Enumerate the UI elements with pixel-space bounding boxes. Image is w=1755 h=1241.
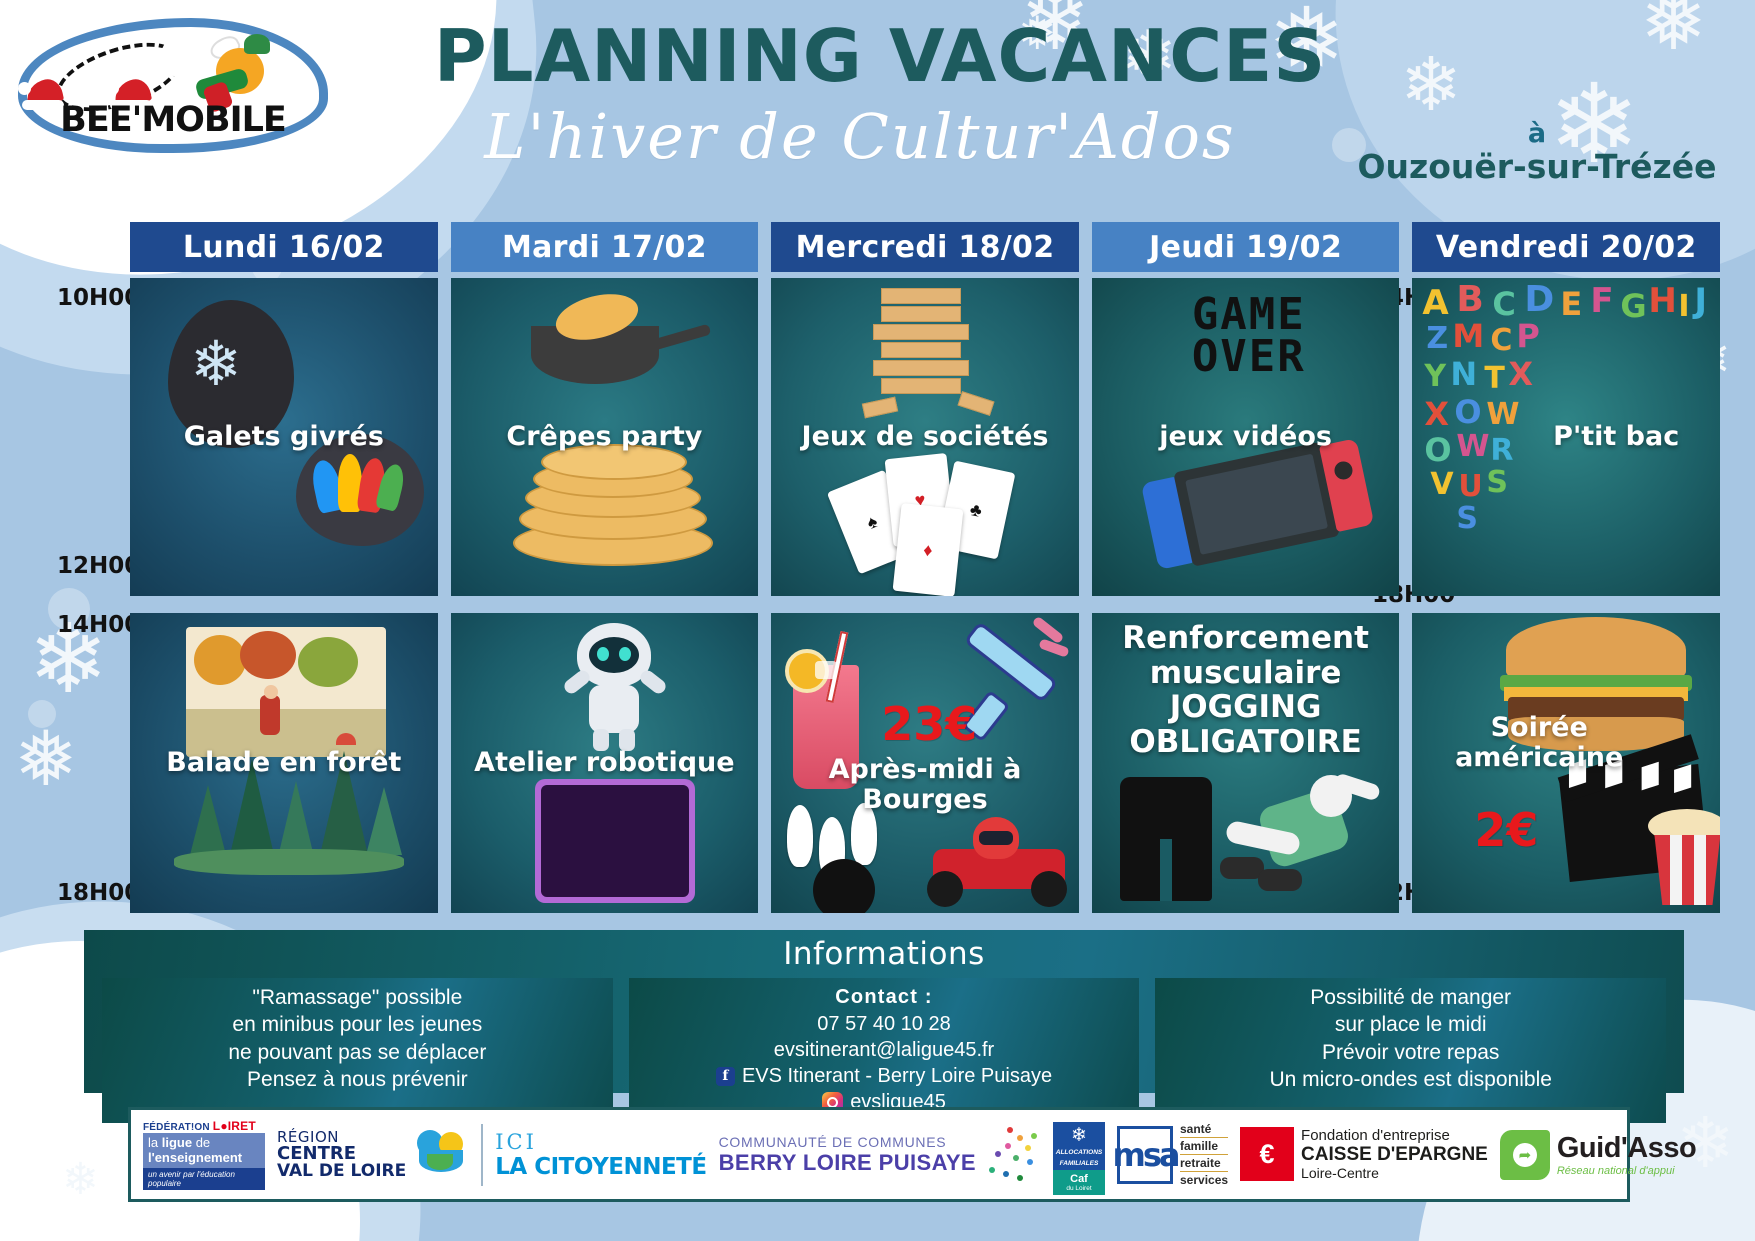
alphabet-letter: O bbox=[1454, 396, 1481, 428]
pine-tree-shape bbox=[278, 781, 314, 857]
caisse-line-1: Fondation d'entreprise bbox=[1301, 1127, 1488, 1144]
day-column-lundi: Lundi 16/02 ❄ Galets givrés bbox=[130, 222, 438, 913]
price-badge-mercredi: 23€ bbox=[881, 697, 977, 751]
msa-mark-icon: msa bbox=[1117, 1126, 1173, 1184]
activity-label-vendredi-morning: P'tit bac bbox=[1547, 422, 1685, 452]
time-marker-left-18h: 18H00 bbox=[57, 880, 140, 906]
ici-block: ICI LA CITOYENNETÉ bbox=[495, 1130, 706, 1180]
jenga-block bbox=[881, 306, 961, 322]
repas-line-1: Possibilité de manger bbox=[1161, 984, 1660, 1011]
tree-crown-shape bbox=[298, 637, 358, 687]
alphabet-letter: Z bbox=[1426, 324, 1448, 354]
alphabet-letter: S bbox=[1456, 504, 1478, 534]
informations-panel: Informations "Ramassage" possible en min… bbox=[84, 930, 1684, 1093]
activity-label-lundi-afternoon: Balade en forêt bbox=[160, 748, 407, 778]
ici-line-1: ICI bbox=[495, 1130, 706, 1154]
partner-logo-caf: ❄ ALLOCATIONS FAMILIALES Caf du Loiret bbox=[1053, 1122, 1105, 1188]
ici-line-2: LA CITOYENNETÉ bbox=[495, 1154, 706, 1180]
santa-hat-pompom bbox=[18, 82, 31, 95]
ccblp-line-1: COMMUNAUTÉ DE COMMUNES bbox=[719, 1134, 976, 1150]
location-prefix: à bbox=[1337, 120, 1737, 148]
page-title: PLANNING VACANCES bbox=[330, 14, 1430, 98]
day-column-vendredi: Vendredi 20/02 A B C D E F G H I J K Z M… bbox=[1412, 222, 1720, 913]
guid-asso-text-block: Guid'Asso Réseau national d'appui bbox=[1557, 1132, 1696, 1177]
popcorn-box bbox=[1654, 835, 1720, 905]
informations-columns: "Ramassage" possible en minibus pour les… bbox=[84, 972, 1684, 1123]
ligue-federation-text: FÉDÉRAT!ON bbox=[143, 1122, 213, 1133]
activity-cell-vendredi-afternoon[interactable]: 2€ Soirée américaine bbox=[1412, 613, 1720, 913]
robot-eye-shape bbox=[597, 647, 609, 661]
tablet-icon bbox=[535, 779, 695, 903]
contact-email[interactable]: evsitinerant@laligue45.fr bbox=[635, 1037, 1134, 1063]
alphabet-letter: O bbox=[1424, 434, 1451, 466]
karting-icon bbox=[919, 809, 1079, 913]
logo-text: BEE'MOBILE bbox=[18, 100, 328, 140]
day-header-mardi[interactable]: Mardi 17/02 bbox=[451, 222, 759, 272]
alphabet-letter: G bbox=[1620, 290, 1646, 322]
activity-cell-mercredi-afternoon[interactable]: 23€ Après-midi à Bourges bbox=[771, 613, 1079, 913]
activity-cell-mardi-afternoon[interactable]: Atelier robotique bbox=[451, 613, 759, 913]
bee-icon bbox=[204, 40, 266, 102]
activity-label-mardi-afternoon: Atelier robotique bbox=[468, 748, 740, 778]
robot-body-shape bbox=[589, 685, 639, 733]
hiker-figure bbox=[260, 695, 280, 735]
robot-arm-shape bbox=[637, 668, 668, 696]
day-column-jeudi: Jeudi 19/02 GAME OVER jeux vidéos bbox=[1092, 222, 1400, 913]
popcorn-box-stripe bbox=[1694, 835, 1706, 905]
guid-asso-compass-icon: ➦ bbox=[1500, 1130, 1550, 1180]
game-over-line1: GAME bbox=[1154, 294, 1344, 336]
alphabet-letter: C bbox=[1490, 326, 1512, 356]
situp-figure-icon bbox=[1218, 761, 1398, 903]
activity-label-mardi-morning: Crêpes party bbox=[500, 422, 708, 452]
dot bbox=[1025, 1145, 1031, 1151]
caf-logo-block: ❄ ALLOCATIONS FAMILIALES Caf du Loiret bbox=[1053, 1122, 1105, 1188]
activity-cell-vendredi-morning[interactable]: A B C D E F G H I J K Z M C P Y N T X X bbox=[1412, 278, 1720, 596]
alphabet-letter: F bbox=[1590, 284, 1613, 318]
caisse-line-3: Loire-Centre bbox=[1301, 1166, 1488, 1182]
sweatpants-icon bbox=[1120, 777, 1212, 901]
figure-shoe bbox=[1220, 857, 1264, 879]
caisse-epargne-mark-icon: € bbox=[1240, 1127, 1294, 1181]
snowflake-icon: ❄ bbox=[62, 1158, 99, 1202]
caf-green-block: Caf du Loiret bbox=[1053, 1170, 1105, 1195]
ligue-la: la bbox=[148, 1135, 162, 1150]
ramassage-line-1: "Ramassage" possible bbox=[108, 984, 607, 1011]
time-marker-left-12h: 12H00 bbox=[57, 553, 140, 579]
hiker-head bbox=[264, 685, 278, 699]
robot-tablet-icon bbox=[555, 623, 673, 753]
partner-logo-berry-loire-puisaye: COMMUNAUTÉ DE COMMUNES BERRY LOIRE PUISA… bbox=[719, 1125, 1041, 1185]
msa-item-services: services bbox=[1180, 1172, 1228, 1188]
alphabet-letter: R bbox=[1490, 436, 1513, 466]
facebook-icon: f bbox=[716, 1067, 735, 1086]
day-column-mardi: Mardi 17/02 Crêpes party bbox=[451, 222, 759, 913]
weekly-schedule-grid: Lundi 16/02 ❄ Galets givrés bbox=[130, 222, 1720, 913]
activity-cell-jeudi-afternoon[interactable]: Renforcement musculaire JOGGING OBLIGATO… bbox=[1092, 613, 1400, 913]
caisse-epargne-text-block: Fondation d'entreprise CAISSE D'EPARGNE … bbox=[1301, 1127, 1488, 1182]
alphabet-letter: E bbox=[1560, 288, 1582, 320]
figure-shoe bbox=[1258, 869, 1302, 891]
partner-logo-caisse-epargne: € Fondation d'entreprise CAISSE D'EPARGN… bbox=[1240, 1127, 1488, 1182]
jenga-block bbox=[881, 288, 961, 304]
time-marker-left-14h: 14H00 bbox=[57, 612, 140, 638]
ramassage-line-3: ne pouvant pas se déplacer bbox=[108, 1039, 607, 1066]
alphabet-letter: I bbox=[1678, 292, 1689, 322]
dot bbox=[1007, 1127, 1013, 1133]
activity-label-jeudi-morning: jeux vidéos bbox=[1153, 422, 1338, 452]
pine-tree-shape bbox=[366, 787, 402, 855]
alphabet-letter: U bbox=[1458, 472, 1482, 502]
snowflake-painting: ❄ bbox=[190, 334, 242, 396]
guid-tagline: Réseau national d'appui bbox=[1557, 1165, 1696, 1177]
game-over-line2: OVER bbox=[1154, 336, 1344, 378]
bowling-ball bbox=[813, 859, 875, 913]
dot bbox=[995, 1151, 1001, 1157]
partner-logo-ici-citoyennete: ICI LA CITOYENNETÉ bbox=[495, 1130, 706, 1180]
alphabet-letter: A bbox=[1422, 286, 1448, 320]
ligue-de: de bbox=[192, 1135, 210, 1150]
alphabet-letter: V bbox=[1430, 470, 1453, 500]
alphabet-letter: S bbox=[1486, 468, 1508, 498]
bokeh-circle bbox=[28, 700, 56, 728]
jenga-block bbox=[862, 397, 898, 419]
snowflake-icon: ❅ bbox=[14, 722, 78, 798]
location-block: à Ouzouër-sur-Trézée bbox=[1337, 120, 1737, 186]
bowling-pins-icon bbox=[777, 801, 927, 913]
playing-card: ♦ bbox=[893, 503, 964, 596]
caf-allocations-line: ALLOCATIONS bbox=[1056, 1149, 1102, 1156]
ccblp-dots-icon bbox=[983, 1125, 1041, 1185]
informations-title: Informations bbox=[84, 930, 1684, 972]
info-box-contact: Contact : 07 57 40 10 28 evsitinerant@la… bbox=[629, 978, 1140, 1123]
info-box-ramassage: "Ramassage" possible en minibus pour les… bbox=[102, 978, 613, 1123]
heart-base-green bbox=[427, 1154, 453, 1170]
autumn-forest-illustration bbox=[186, 627, 386, 757]
alphabet-letter: K bbox=[1718, 290, 1720, 324]
guid-name: Guid'Asso bbox=[1557, 1132, 1696, 1165]
dot bbox=[1031, 1133, 1037, 1139]
alphabet-letter: B bbox=[1456, 282, 1483, 318]
popcorn-icon bbox=[1644, 809, 1720, 909]
logo-divider bbox=[481, 1124, 483, 1186]
ligue-loiret-text: L●IRET bbox=[213, 1119, 256, 1133]
dot bbox=[1005, 1143, 1011, 1149]
kart-wheel bbox=[927, 871, 963, 907]
alphabet-letter: N bbox=[1450, 358, 1477, 390]
alphabet-letter: C bbox=[1492, 288, 1515, 320]
game-over-pixel-text: GAME OVER bbox=[1154, 294, 1344, 378]
playing-cards-icon: ♠ ♥ ♣ ♦ bbox=[841, 448, 1051, 578]
caf-loiret-text: du Loiret bbox=[1053, 1185, 1105, 1192]
ramassage-line-2: en minibus pour les jeunes bbox=[108, 1011, 607, 1038]
dot bbox=[1003, 1171, 1009, 1177]
time-marker-left-10h: 10H00 bbox=[57, 285, 140, 311]
repas-line-4: Un micro-ondes est disponible bbox=[1161, 1066, 1660, 1093]
jenga-block bbox=[881, 378, 961, 394]
activity-label-lundi-morning: Galets givrés bbox=[178, 422, 390, 452]
repas-line-2: sur place le midi bbox=[1161, 1011, 1660, 1038]
partner-logo-msa: msa santé famille retraite services bbox=[1117, 1121, 1228, 1188]
day-column-mercredi: Mercredi 18/02 ♠ ♥ ♣ ♦ Jeux de sociétés bbox=[771, 222, 1079, 913]
ccblp-block: COMMUNAUTÉ DE COMMUNES BERRY LOIRE PUISA… bbox=[719, 1134, 976, 1176]
price-badge-vendredi: 2€ bbox=[1474, 803, 1538, 857]
caf-familiales-line: FAMILIALES bbox=[1060, 1160, 1099, 1167]
dot bbox=[1027, 1159, 1033, 1165]
popcorn-box-stripe bbox=[1670, 835, 1682, 905]
msa-item-famille: famille bbox=[1180, 1138, 1228, 1155]
robot-arm-shape bbox=[561, 668, 592, 696]
alphabet-letter: T bbox=[1484, 364, 1504, 394]
activity-cell-lundi-morning[interactable]: ❄ Galets givrés bbox=[130, 278, 438, 596]
msa-services-list: santé famille retraite services bbox=[1180, 1121, 1228, 1188]
alphabet-letter: Y bbox=[1424, 362, 1446, 392]
facebook-handle: EVS Itinerant - Berry Loire Puisaye bbox=[742, 1063, 1052, 1089]
msa-item-sante: santé bbox=[1180, 1121, 1228, 1138]
alphabet-letter: J bbox=[1694, 284, 1707, 318]
bee-mobile-logo: BEE'MOBILE bbox=[18, 18, 328, 153]
region-line-3: VAL DE LOIRE bbox=[277, 1163, 406, 1180]
ramassage-line-4: Pensez à nous prévenir bbox=[108, 1066, 607, 1093]
activity-cell-jeudi-morning[interactable]: GAME OVER jeux vidéos bbox=[1092, 278, 1400, 596]
kart-wheel bbox=[1031, 871, 1067, 907]
santa-hat-pompom bbox=[106, 82, 119, 95]
snowflake-icon: ❅ bbox=[1640, 0, 1707, 62]
facebook-line[interactable]: f EVS Itinerant - Berry Loire Puisaye bbox=[635, 1063, 1134, 1089]
tablet-screen bbox=[541, 785, 689, 897]
region-heart-icon bbox=[413, 1130, 469, 1180]
region-line-2: CENTRE bbox=[277, 1145, 406, 1163]
day-header-jeudi[interactable]: Jeudi 19/02 bbox=[1092, 222, 1400, 272]
alphabet-letter: P bbox=[1516, 320, 1539, 352]
activity-label-mercredi-morning: Jeux de sociétés bbox=[796, 422, 1055, 452]
ligue-federation-line: FÉDÉRAT!ON L●IRET bbox=[143, 1119, 265, 1133]
dot bbox=[989, 1167, 995, 1173]
day-header-vendredi[interactable]: Vendredi 20/02 bbox=[1412, 222, 1720, 272]
alphabet-letter: M bbox=[1452, 320, 1484, 352]
contact-heading: Contact : bbox=[635, 984, 1134, 1010]
info-box-repas: Possibilité de manger sur place le midi … bbox=[1155, 978, 1666, 1123]
page-subtitle: L'hiver de Cultur'Ados bbox=[330, 100, 1390, 173]
contact-phone[interactable]: 07 57 40 10 28 bbox=[635, 1011, 1134, 1037]
alphabet-letter: W bbox=[1486, 400, 1519, 430]
dot bbox=[1013, 1155, 1019, 1161]
crepes-pan-icon bbox=[521, 290, 711, 400]
ccblp-line-2: BERRY LOIRE PUISAYE bbox=[719, 1150, 976, 1176]
clapper-stripe bbox=[1642, 762, 1659, 791]
location-city: Ouzouër-sur-Trézée bbox=[1337, 148, 1737, 186]
forest-ground-shape bbox=[174, 849, 404, 875]
tree-crown-shape bbox=[194, 635, 246, 685]
partner-logos-strip: FÉDÉRAT!ON L●IRET la ligue de l'enseigne… bbox=[128, 1107, 1630, 1202]
bee-hat-shape bbox=[244, 34, 270, 54]
ligue-name-block: la ligue de l'enseignement bbox=[143, 1133, 265, 1168]
activity-label-mercredi-afternoon: Après-midi à Bourges bbox=[810, 755, 1040, 815]
alphabet-letter: D bbox=[1524, 282, 1554, 318]
caisse-line-2: CAISSE D'EPARGNE bbox=[1301, 1144, 1488, 1166]
day-header-mercredi[interactable]: Mercredi 18/02 bbox=[771, 222, 1079, 272]
msa-item-retraite: retraite bbox=[1180, 1155, 1228, 1172]
ice-cube-shape bbox=[815, 661, 837, 679]
dot bbox=[1017, 1135, 1023, 1141]
alphabet-letter: H bbox=[1648, 284, 1676, 318]
caf-snow-glyph: ❄ bbox=[1071, 1126, 1087, 1145]
partner-logo-ligue-enseignement: FÉDÉRAT!ON L●IRET la ligue de l'enseigne… bbox=[143, 1119, 265, 1190]
helmet-visor bbox=[979, 831, 1013, 845]
partner-logo-guid-asso: ➦ Guid'Asso Réseau national d'appui bbox=[1500, 1130, 1696, 1180]
ligue-logo-block: FÉDÉRAT!ON L●IRET la ligue de l'enseigne… bbox=[143, 1119, 265, 1190]
pants-gap bbox=[1160, 839, 1172, 901]
alphabet-letter: X bbox=[1508, 358, 1533, 390]
day-header-lundi[interactable]: Lundi 16/02 bbox=[130, 222, 438, 272]
partner-logo-region-centre: RÉGION CENTRE VAL DE LOIRE bbox=[277, 1130, 469, 1180]
caf-caf-text: Caf bbox=[1053, 1173, 1105, 1185]
jenga-block bbox=[873, 360, 969, 376]
jenga-block bbox=[873, 324, 969, 340]
tree-crown-shape bbox=[240, 631, 296, 679]
activity-label-jeudi-afternoon: Renforcement musculaire JOGGING OBLIGATO… bbox=[1092, 621, 1400, 760]
jenga-block bbox=[881, 342, 961, 358]
alphabet-letter: W bbox=[1456, 432, 1489, 462]
ligue-ligue: ligue bbox=[162, 1135, 192, 1150]
pine-tree-shape bbox=[190, 785, 226, 855]
robot-eye-shape bbox=[619, 647, 631, 661]
dot bbox=[1017, 1175, 1023, 1181]
repas-line-3: Prévoir votre repas bbox=[1161, 1039, 1660, 1066]
activity-cell-lundi-afternoon[interactable]: Balade en forêt bbox=[130, 613, 438, 913]
activity-cell-mardi-morning[interactable]: Crêpes party bbox=[451, 278, 759, 596]
colored-alphabet-icon: A B C D E F G H I J K Z M C P Y N T X X bbox=[1416, 282, 1676, 532]
ligue-tagline: un avenir par l'éducation populaire bbox=[143, 1168, 265, 1190]
activity-label-vendredi-afternoon: Soirée américaine bbox=[1444, 713, 1634, 773]
region-text-block: RÉGION CENTRE VAL DE LOIRE bbox=[277, 1130, 406, 1180]
jenga-tower-icon bbox=[863, 284, 993, 424]
alphabet-letter: X bbox=[1424, 398, 1449, 430]
clapper-stripe bbox=[1674, 764, 1691, 793]
compass-needle: ➦ bbox=[1513, 1143, 1537, 1167]
activity-cell-mercredi-morning[interactable]: ♠ ♥ ♣ ♦ Jeux de sociétés bbox=[771, 278, 1079, 596]
jenga-block bbox=[958, 391, 995, 416]
ligue-enseignement: l'enseignement bbox=[148, 1150, 242, 1165]
burger-top-bun bbox=[1506, 617, 1686, 683]
